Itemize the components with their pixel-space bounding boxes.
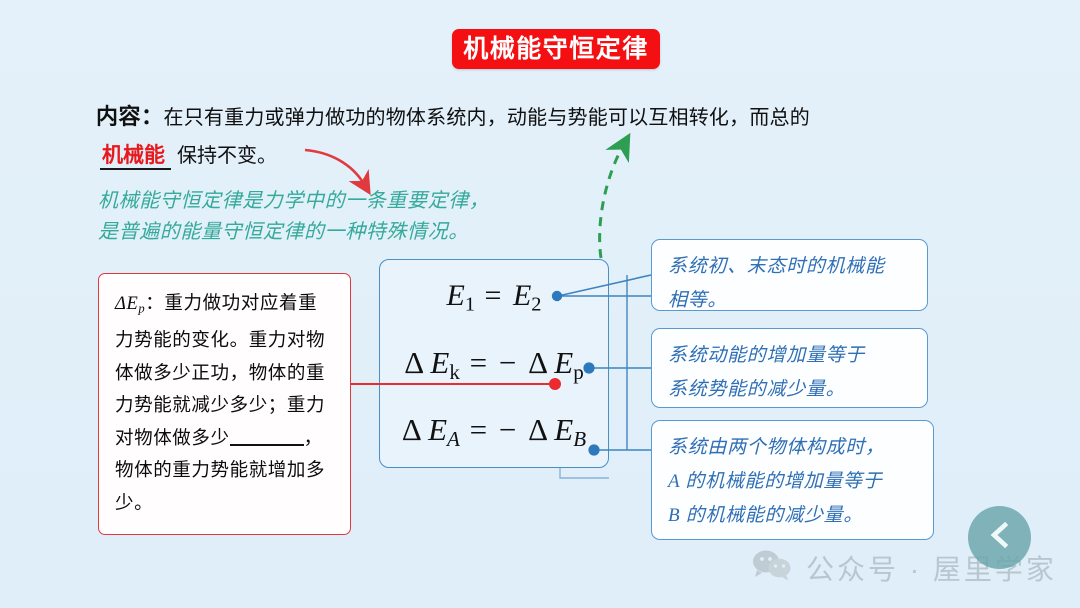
delta-ep-explanation-text: ΔEp：重力做功对应着重力势能的变化。重力对物体做多少正功，物体的重力势能就减少… [115,288,336,520]
page-title: 机械能守恒定律 [463,37,649,62]
annotation-box-1-line1: 系统初、末态时的机械能 [668,250,913,284]
formula-e1-equals-e2: E1 = E2 [380,279,608,317]
slide-title-badge: 机械能守恒定律 [452,29,660,69]
delta-ep-body-text: 重力做功对应着重力势能的变化。重力对物体做多少正功，物体的重力势能就减少多少；重… [115,294,325,449]
red-curved-arrow [305,150,364,184]
green-dashed-arrow [600,146,623,258]
connector-trunk-bottom [560,468,609,478]
formula-delta-ea-equals-minus-delta-eb: Δ EA = − Δ EB [380,412,608,452]
teal-note-line2: 是普遍的能量守恒定律的一种特殊情况。 [98,217,489,248]
back-button[interactable] [968,506,1031,569]
content-lead-label: 内容： [96,104,164,129]
teal-note-line1: 机械能守恒定律是力学中的一条重要定律， [98,186,489,217]
slide-canvas: 机械能守恒定律 内容：在只有重力或弹力做功的物体系统内，动能与势能可以互相转化，… [0,0,1080,608]
delta-ep-colon: ： [145,294,164,314]
wechat-icon [752,549,792,588]
highlight-blank-answer: 机械能 [100,144,171,170]
annotation-box-kinetic-potential: 系统动能的增加量等于 系统势能的减少量。 [651,328,928,408]
teal-note: 机械能守恒定律是力学中的一条重要定律， 是普遍的能量守恒定律的一种特殊情况。 [98,186,489,248]
content-paragraph-line2: 机械能 保持不变。 [100,139,277,170]
annotation-box-3-line1: 系统由两个物体构成时， [668,431,919,465]
fill-in-blank[interactable] [230,444,304,446]
delta-ep-symbol: ΔEp [115,294,145,314]
formula-delta-ek-equals-minus-delta-ep: Δ Ek = − Δ Ep [380,345,608,385]
content-line1-text: 在只有重力或弹力做功的物体系统内，动能与势能可以互相转化，而总的 [164,107,810,129]
annotation-box-1-line2: 相等。 [668,284,913,318]
chevron-left-icon [985,520,1015,555]
annotation-box-3-line2: A 的机械能的增加量等于 [668,465,919,499]
annotation-box-2-line2: 系统势能的减少量。 [668,373,913,407]
annotation-box-3-line3: B 的机械能的减少量。 [668,499,919,533]
annotation-box-initial-final-energy: 系统初、末态时的机械能 相等。 [651,239,928,311]
annotation-box-2-line1: 系统动能的增加量等于 [668,339,913,373]
formula-box: E1 = E2 Δ Ek = − Δ Ep Δ EA = − Δ EB [379,259,609,468]
content-line2-tail: 保持不变。 [177,139,277,170]
delta-ep-explanation-box: ΔEp：重力做功对应着重力势能的变化。重力对物体做多少正功，物体的重力势能就减少… [98,273,351,535]
annotation-box-two-body-system: 系统由两个物体构成时， A 的机械能的增加量等于 B 的机械能的减少量。 [651,420,934,540]
content-paragraph-line1: 内容：在只有重力或弹力做功的物体系统内，动能与势能可以互相转化，而总的 [96,100,926,135]
